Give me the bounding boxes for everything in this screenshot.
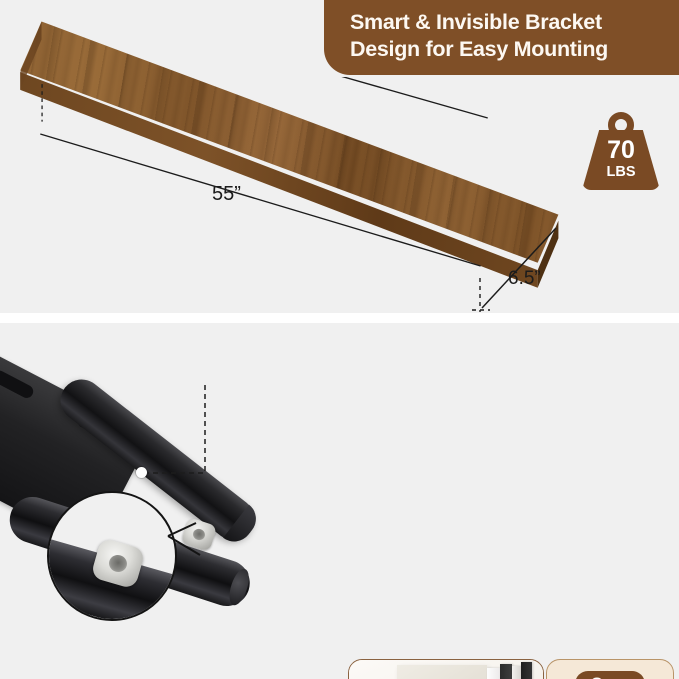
depth-label: 6.5” [508, 268, 541, 290]
headline-line-2: Design for Easy Mounting [350, 36, 663, 63]
headline-line-1: Smart & Invisible Bracket [350, 9, 663, 36]
weight-value: 70 [607, 138, 635, 163]
ours-badge: Ours [575, 671, 646, 679]
length-label: 55” [212, 183, 241, 206]
ours-text-card: Ours DEEPER & THICKER Create more storag… [546, 659, 674, 679]
weight-unit: LBS [607, 163, 636, 181]
book-spine [521, 662, 532, 679]
magnifier-detail-circle [47, 491, 177, 621]
book-spine [487, 668, 500, 679]
weight-icon: 70 LBS [582, 130, 660, 190]
ours-photo-card: PLAIN & SIMPLE KIM BRENNEMAN [348, 659, 544, 679]
bracket-features-panel: Made of Military Grade Iron PLAIN & SIMP… [0, 323, 679, 679]
bracket-illustration [0, 323, 345, 613]
book-spine [512, 666, 521, 679]
rod-end-cap-secondary [226, 566, 253, 607]
book-cover-ours: PLAIN & SIMPLE KIM BRENNEMAN [397, 665, 487, 679]
book-spine [500, 664, 512, 679]
length-dimension-leader [22, 77, 547, 282]
headline-banner: Smart & Invisible Bracket Design for Eas… [324, 0, 679, 75]
product-dimensions-panel: 55” 6.5” Smart & Invisible Bracket Desig… [0, 0, 679, 313]
rod-end-cap [223, 505, 263, 549]
material-callout-anchor-dot [136, 467, 147, 478]
weight-capacity-badge: 70 LBS [578, 112, 664, 190]
plate-slot [0, 368, 35, 400]
